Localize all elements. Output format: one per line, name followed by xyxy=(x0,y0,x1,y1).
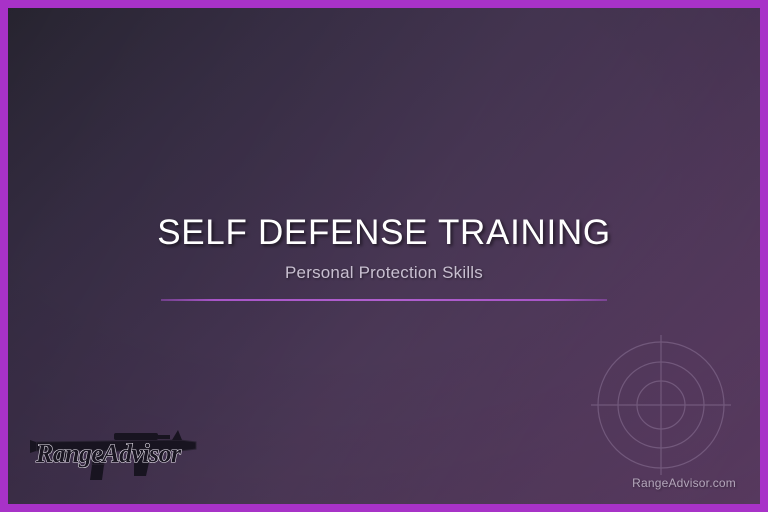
rangeadvisor-logo: RangeAdvisor xyxy=(30,420,202,482)
site-watermark: RangeAdvisor.com xyxy=(632,476,736,490)
title-block: SELF DEFENSE TRAINING Personal Protectio… xyxy=(8,213,760,301)
logo-wordmark: RangeAdvisor xyxy=(35,439,182,468)
presentation-slide: SELF DEFENSE TRAINING Personal Protectio… xyxy=(0,0,768,512)
crosshair-target-icon xyxy=(591,335,731,475)
title-divider xyxy=(161,299,607,301)
page-subtitle: Personal Protection Skills xyxy=(8,263,760,283)
page-title: SELF DEFENSE TRAINING xyxy=(8,213,760,253)
